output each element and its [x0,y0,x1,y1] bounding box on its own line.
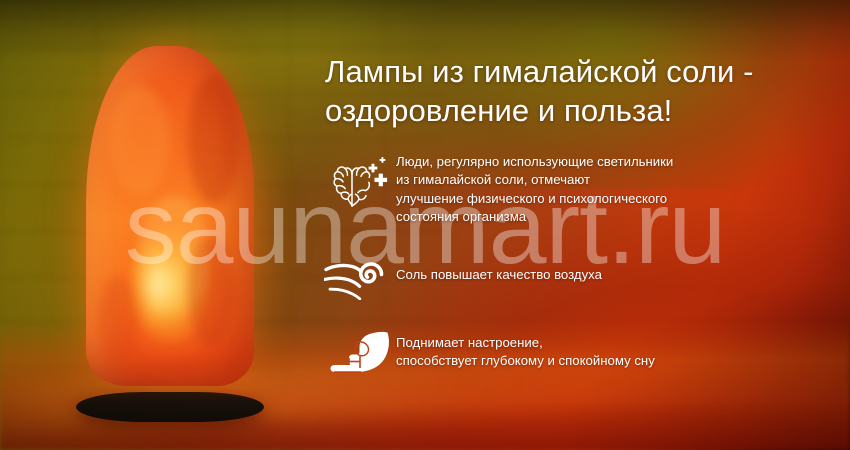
background-vignette [0,0,850,450]
salt-lamp-promo-banner: saunamart.ru Лампы из гималайской соли -… [0,0,850,450]
